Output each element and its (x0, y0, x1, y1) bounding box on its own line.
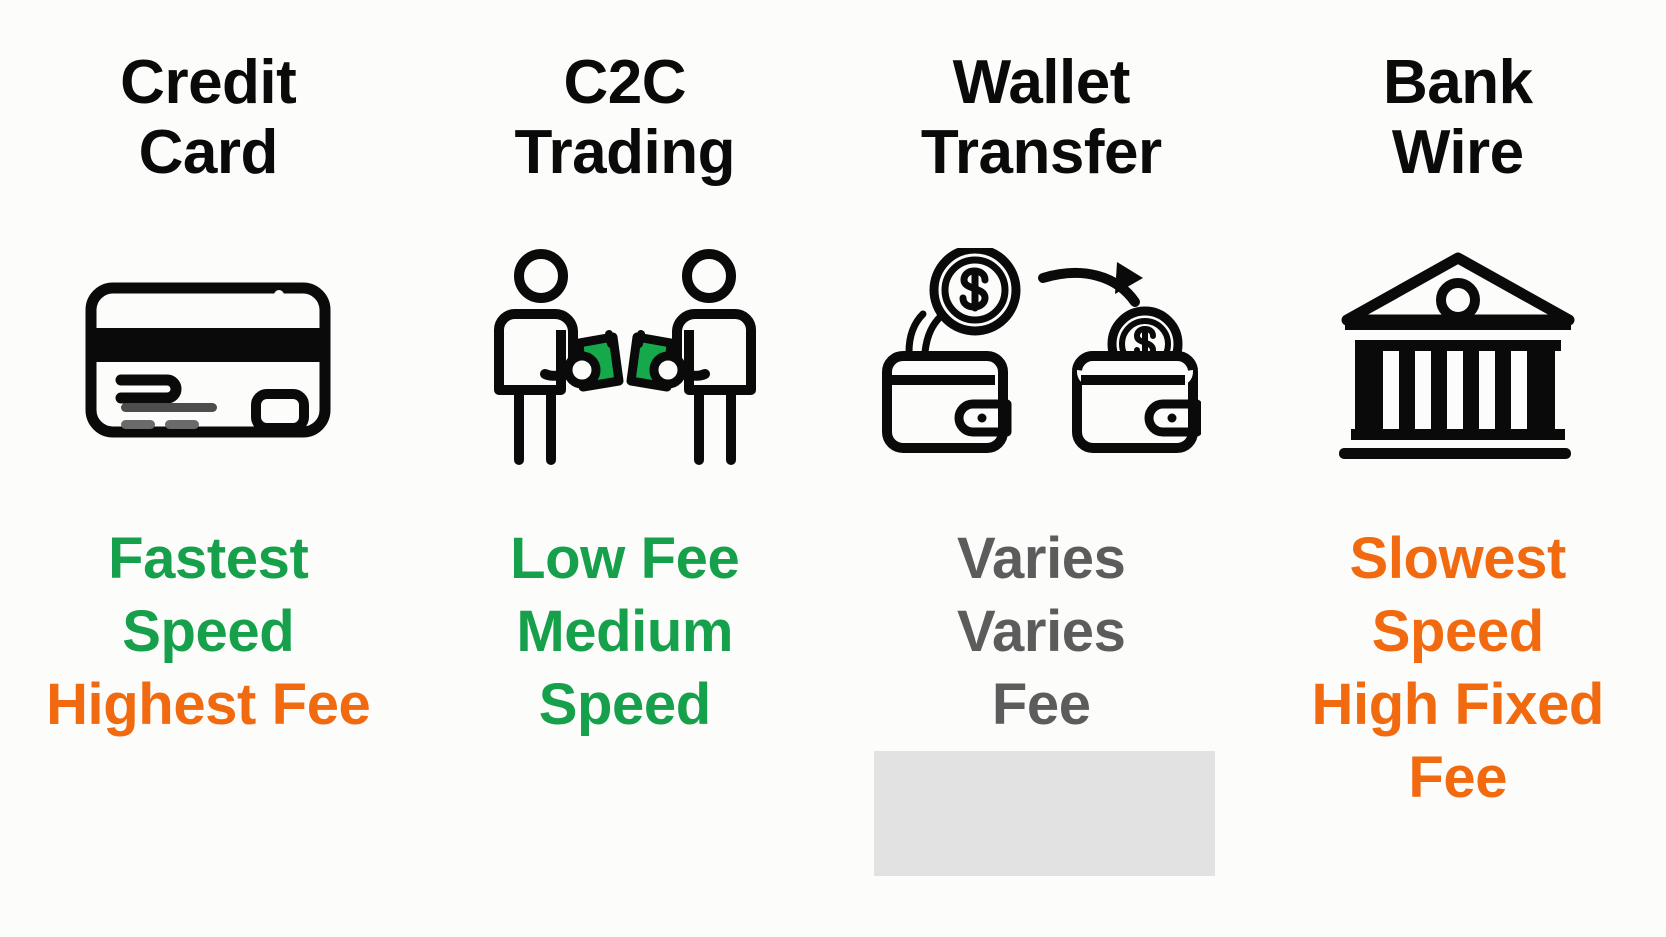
attr-line-highlighted: Fee (850, 668, 1233, 741)
attr-line: Fee (1266, 741, 1649, 814)
column-wallet-transfer: Wallet Transfer (833, 0, 1250, 937)
attr-line: Varies (850, 595, 1233, 668)
infographic-canvas: Credit Card Fastest Speed Highest Fee (0, 0, 1666, 937)
attributes-credit-card: Fastest Speed Highest Fee (17, 522, 400, 741)
comparison-columns: Credit Card Fastest Speed Highest Fee (0, 0, 1666, 937)
attr-line: Fastest (17, 522, 400, 595)
column-title-wallet-transfer: Wallet Transfer (862, 48, 1220, 188)
attr-line: Highest Fee (17, 668, 400, 741)
people-exchanging-money-icon (417, 240, 834, 480)
attr-line: Medium (433, 595, 816, 668)
attr-line: Speed (17, 595, 400, 668)
credit-card-icon (0, 240, 417, 480)
attr-line: Speed (1266, 595, 1649, 668)
bank-building-icon (1250, 240, 1666, 480)
attr-line: Low Fee (433, 522, 816, 595)
column-bank-wire: Bank Wire (1250, 0, 1666, 937)
attributes-wallet-transfer: Varies Varies Fee (850, 522, 1233, 741)
attributes-bank-wire: Slowest Speed High Fixed Fee (1266, 522, 1649, 814)
attr-line: Speed (433, 668, 816, 741)
column-title-bank-wire: Bank Wire (1279, 48, 1637, 188)
attributes-c2c-trading: Low Fee Medium Speed (433, 522, 816, 741)
attr-line: Varies (850, 522, 1233, 595)
column-title-credit-card: Credit Card (29, 48, 387, 188)
column-title-c2c-trading: C2C Trading (446, 48, 804, 188)
column-credit-card: Credit Card Fastest Speed Highest Fee (0, 0, 417, 937)
attr-line: Slowest (1266, 522, 1649, 595)
column-c2c-trading: C2C Trading (417, 0, 834, 937)
wallet-transfer-icon (833, 240, 1250, 480)
attr-line: High Fixed (1266, 668, 1649, 741)
